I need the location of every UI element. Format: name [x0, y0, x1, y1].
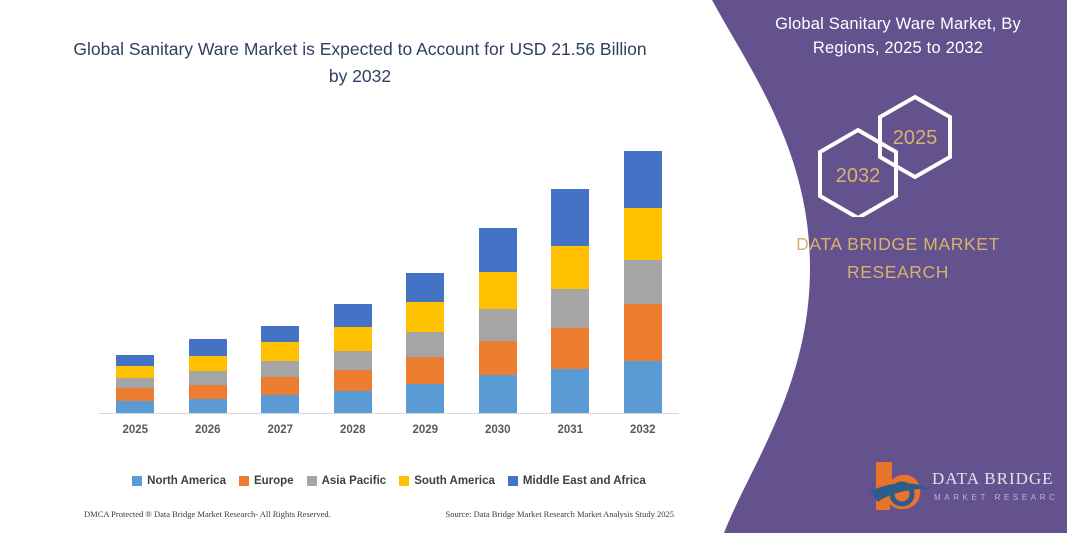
footer-source: Source: Data Bridge Market Research Mark… [445, 509, 674, 519]
legend-swatch-icon [307, 476, 317, 486]
bar-segment [189, 385, 227, 399]
x-tick-2028: 2028 [323, 424, 383, 444]
bar-segment [116, 355, 154, 365]
bar-segment [406, 332, 444, 358]
x-tick-2030: 2030 [468, 424, 528, 444]
legend-item-north-america[interactable]: North America [132, 475, 226, 487]
bar-segment [624, 151, 662, 208]
bar-segment [334, 370, 372, 391]
brand-panel: Global Sanitary Ware Market, By Regions,… [690, 0, 1067, 533]
panel-title: Global Sanitary Ware Market, By Regions,… [748, 12, 1048, 60]
bar-2030 [479, 228, 517, 414]
bar-segment [624, 361, 662, 414]
bar-segment [334, 351, 372, 371]
bar-segment [261, 395, 299, 414]
bar-segment [551, 189, 589, 246]
legend-label: Middle East and Africa [523, 475, 646, 487]
bar-segment [406, 384, 444, 414]
footer-copyright: DMCA Protected ® Data Bridge Market Rese… [84, 509, 331, 519]
bar-segment [551, 289, 589, 328]
bar-segment [116, 388, 154, 400]
legend-label: Asia Pacific [322, 475, 387, 487]
legend-label: South America [414, 475, 495, 487]
bar-2032 [624, 151, 662, 414]
bar-2029 [406, 273, 444, 414]
bar-2025 [116, 355, 154, 414]
bar-segment [479, 375, 517, 414]
x-tick-2027: 2027 [250, 424, 310, 444]
bar-segment [189, 356, 227, 371]
legend-label: Europe [254, 475, 294, 487]
legend-item-middle-east-and-africa[interactable]: Middle East and Africa [508, 475, 646, 487]
chart-legend: North AmericaEuropeAsia PacificSouth Ame… [99, 472, 679, 490]
legend-swatch-icon [132, 476, 142, 486]
legend-swatch-icon [508, 476, 518, 486]
bar-segment [551, 328, 589, 369]
bar-segment [261, 326, 299, 342]
bar-segment [406, 273, 444, 302]
x-tick-2031: 2031 [540, 424, 600, 444]
bar-segment [334, 304, 372, 327]
bar-segment [189, 399, 227, 414]
infographic-root: Global Sanitary Ware Market is Expected … [0, 0, 1067, 533]
bar-series-container [99, 130, 679, 414]
bar-segment [334, 391, 372, 414]
legend-swatch-icon [399, 476, 409, 486]
bar-segment [261, 342, 299, 361]
x-axis-line [99, 413, 679, 414]
page-title: Global Sanitary Ware Market is Expected … [70, 36, 650, 90]
bar-segment [189, 339, 227, 356]
bar-segment [189, 371, 227, 384]
logo-subtitle: MARKET RESEARCH [934, 493, 1058, 502]
x-tick-2032: 2032 [613, 424, 673, 444]
bar-2027 [261, 326, 299, 414]
hexagon-badges: 2025 2032 [810, 92, 980, 217]
bar-segment [406, 357, 444, 384]
bar-segment [116, 401, 154, 414]
bar-segment [261, 361, 299, 377]
x-tick-2029: 2029 [395, 424, 455, 444]
bar-segment [479, 272, 517, 309]
logo-title: DATA BRIDGE [932, 469, 1054, 488]
bar-segment [551, 246, 589, 290]
legend-item-asia-pacific[interactable]: Asia Pacific [307, 475, 387, 487]
bar-segment [551, 369, 589, 414]
bar-segment [624, 304, 662, 361]
x-tick-2025: 2025 [105, 424, 165, 444]
legend-label: North America [147, 475, 226, 487]
bar-segment [624, 260, 662, 304]
bar-2028 [334, 304, 372, 414]
bar-segment [334, 327, 372, 351]
legend-item-south-america[interactable]: South America [399, 475, 495, 487]
x-axis-tick-labels: 20252026202720282029203020312032 [99, 424, 679, 444]
bar-segment [406, 302, 444, 331]
footer: DMCA Protected ® Data Bridge Market Rese… [84, 506, 674, 522]
bar-2031 [551, 189, 589, 414]
brand-name: DATA BRIDGE MARKET RESEARCH [748, 230, 1048, 286]
bar-2026 [189, 339, 227, 414]
bar-segment [116, 366, 154, 378]
bar-segment [479, 228, 517, 272]
bar-segment [479, 309, 517, 341]
hexagon-2025-label: 2025 [893, 127, 938, 149]
bar-chart-plot [99, 130, 679, 414]
legend-swatch-icon [239, 476, 249, 486]
bar-segment [261, 377, 299, 395]
bar-segment [116, 378, 154, 388]
hexagon-2032-label: 2032 [836, 165, 881, 187]
bar-segment [479, 341, 517, 375]
legend-item-europe[interactable]: Europe [239, 475, 294, 487]
bar-segment [624, 208, 662, 260]
x-tick-2026: 2026 [178, 424, 238, 444]
data-bridge-logo: DATA BRIDGE MARKET RESEARCH [868, 458, 1058, 513]
